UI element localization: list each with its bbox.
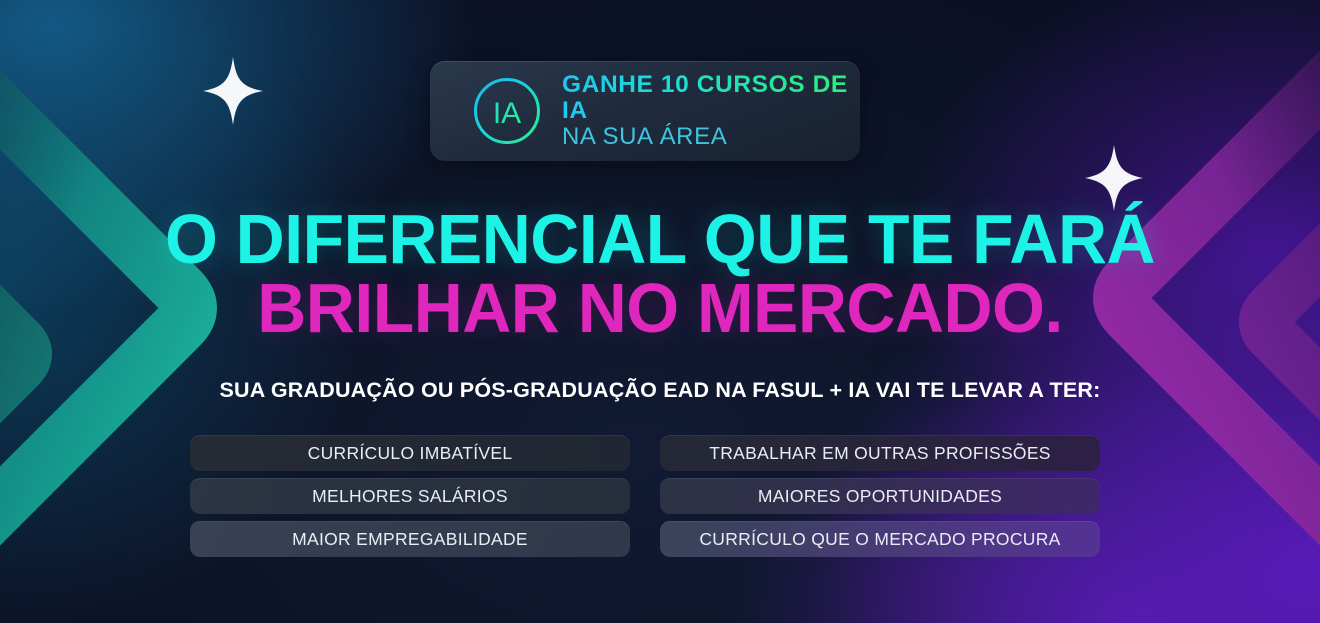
subtitle: SUA GRADUAÇÃO OU PÓS-GRADUAÇÃO EAD NA FA… — [0, 378, 1320, 403]
headline-line-1: O DIFERENCIAL QUE TE FARÁ — [20, 199, 1300, 279]
benefit-pill[interactable]: TRABALHAR EM OUTRAS PROFISSÕES — [660, 435, 1100, 471]
benefit-pill[interactable]: MAIOR EMPREGABILIDADE — [190, 521, 630, 557]
sparkle-star — [203, 57, 263, 125]
badge-headline: GANHE 10 CURSOS DE IA — [562, 72, 860, 124]
benefit-pill[interactable]: MAIORES OPORTUNIDADES — [660, 478, 1100, 514]
headline-line-2: BRILHAR NO MERCADO. — [20, 268, 1300, 348]
promo-banner: IA GANHE 10 CURSOS DE IA NA SUA ÁREA O D… — [0, 0, 1320, 623]
benefit-pill[interactable]: MELHORES SALÁRIOS — [190, 478, 630, 514]
benefit-pill[interactable]: CURRÍCULO QUE O MERCADO PROCURA — [660, 521, 1100, 557]
benefits-column-right: TRABALHAR EM OUTRAS PROFISSÕES MAIORES O… — [660, 435, 1100, 557]
benefits-column-left: CURRÍCULO IMBATÍVEL MELHORES SALÁRIOS MA… — [190, 435, 630, 557]
benefits-list: CURRÍCULO IMBATÍVEL MELHORES SALÁRIOS MA… — [190, 435, 1100, 557]
ai-courses-badge[interactable]: IA GANHE 10 CURSOS DE IA NA SUA ÁREA — [430, 61, 860, 161]
badge-subheadline: NA SUA ÁREA — [562, 124, 860, 149]
svg-text:IA: IA — [493, 97, 521, 130]
benefit-pill[interactable]: CURRÍCULO IMBATÍVEL — [190, 435, 630, 471]
ia-logo-icon: IA — [472, 76, 542, 146]
